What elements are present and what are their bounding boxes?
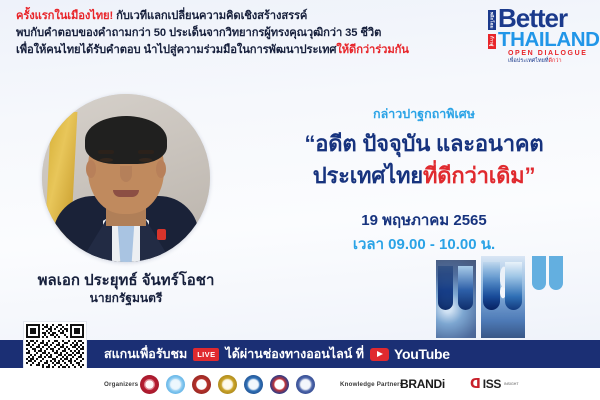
quote-mark-icon-2 [481,256,525,338]
organizer-logos [140,375,315,394]
session-kicker: กล่าวปาฐกถาพิเศษ [250,104,598,124]
session-quote-line-2-red: ที่ดีกว่าเดิม” [423,163,535,188]
organizer-logo-icon-1 [140,375,159,394]
session-quote-line-2-dark: ประเทศไทย [313,163,423,188]
portrait-nose [120,166,132,182]
portrait-eye-right [139,158,152,162]
session-quote-line-2: ประเทศไทยที่ดีกว่าเดิม” [250,158,598,193]
iss-logo-word: ISS [483,377,501,391]
iss-logo: ᗡ ISS INSIGHT [470,377,519,391]
portrait-ear-left [86,160,96,178]
organizer-logo-icon-4 [218,375,237,394]
iss-logo-mark: ᗡ [470,378,481,390]
organizers-label: Organizers [104,381,138,388]
live-text-before: สแกนเพื่อรับชม [104,344,187,364]
portrait-brow-right [138,150,154,154]
organizer-logo-icon-2 [166,375,185,394]
organizer-logo-icon-6 [270,375,289,394]
logo-open-dialogue: OPEN DIALOGUE [508,49,588,58]
live-stream-text: สแกนเพื่อรับชม LIVE ได้ผ่านช่องทางออนไลน… [104,344,450,364]
quote-mark-image-2 [481,256,525,338]
headline-line-1-rest: กับเวทีแลกเปลี่ยนความคิดเชิงสร้างสรรค์ [113,10,307,22]
session-quote-line-1: “อดีต ปัจจุบัน และอนาคต [250,126,598,161]
logo-subtitle-red: ดีกว่า [548,58,561,64]
logo-better-row: พลิกโฉม Better [488,6,567,30]
portrait-ear-right [156,160,166,178]
youtube-link[interactable]: YouTube [370,346,450,362]
headline-line-2: พบกับคำตอบของคำถามกว่า 50 ประเด็นจากวิทย… [16,25,486,42]
quote-mark-icon-3 [530,254,566,298]
portrait-eye-left [100,158,113,162]
speaker-role: นายกรัฐมนตรี [0,289,252,308]
brandi-logo: BRANDi [400,377,445,391]
portrait-hair [85,116,167,164]
event-date: 19 พฤษภาคม 2565 [250,208,598,232]
organizer-logo-icon-5 [244,375,263,394]
speaker-portrait-wrap [42,94,210,262]
iss-logo-tagline: INSIGHT [504,382,519,386]
headline-line-1: ครั้งแรกในเมืองไทย! กับเวทีแลกเปลี่ยนควา… [16,8,486,25]
logo-better-word: Better [498,6,567,30]
headline-line-1-highlight: ครั้งแรกในเมืองไทย! [16,10,113,22]
better-thailand-logo: พลิกโฉม Better ก้าวสู่ THAILAND OPEN DIA… [488,6,592,68]
portrait-brow-left [98,150,114,154]
footer-bar: Organizers Knowledge Partners BRANDi ᗡ I… [0,368,600,400]
live-stream-bar: สแกนเพื่อรับชม LIVE ได้ผ่านช่องทางออนไลน… [0,340,600,368]
headline-block: ครั้งแรกในเมืองไทย! กับเวทีแลกเปลี่ยนควา… [16,8,486,59]
headline-line-3-rest: เพื่อให้คนไทยได้รับคำตอบ นำไปสู่ความร่วม… [16,44,336,56]
quote-mark-image-1 [436,260,476,338]
youtube-label: YouTube [394,346,450,362]
organizer-logo-icon-7 [296,375,315,394]
headline-line-3: เพื่อให้คนไทยได้รับคำตอบ นำไปสู่ความร่วม… [16,42,486,59]
portrait-lapel-pin [157,229,166,240]
event-time: เวลา 09.00 - 10.00 น. [250,232,598,256]
live-badge: LIVE [193,348,219,361]
headline-line-3-highlight: ให้ดีกว่าร่วมกัน [336,44,408,56]
logo-subtitle-dark: เพื่อประเทศไทยที่ [508,58,548,64]
logo-thailand-word: THAILAND [498,30,600,49]
logo-thailand-row: ก้าวสู่ THAILAND [488,30,600,49]
portrait-mouth [113,190,139,197]
knowledge-partners-label: Knowledge Partners [340,381,403,388]
logo-subtitle: เพื่อประเทศไทยที่ดีกว่า [508,58,562,65]
speaker-portrait [42,94,210,262]
quote-mark-icon-1 [436,260,476,338]
organizer-logo-icon-3 [192,375,211,394]
youtube-play-icon [370,348,389,361]
live-text-middle: ได้ผ่านช่องทางออนไลน์ ที่ [225,344,364,364]
poster-canvas: ครั้งแรกในเมืองไทย! กับเวทีแลกเปลี่ยนควา… [0,0,600,400]
quote-mark-decoration [436,254,582,338]
logo-tag-bottom: ก้าวสู่ [488,34,496,49]
logo-tag-top: พลิกโฉม [488,10,496,30]
